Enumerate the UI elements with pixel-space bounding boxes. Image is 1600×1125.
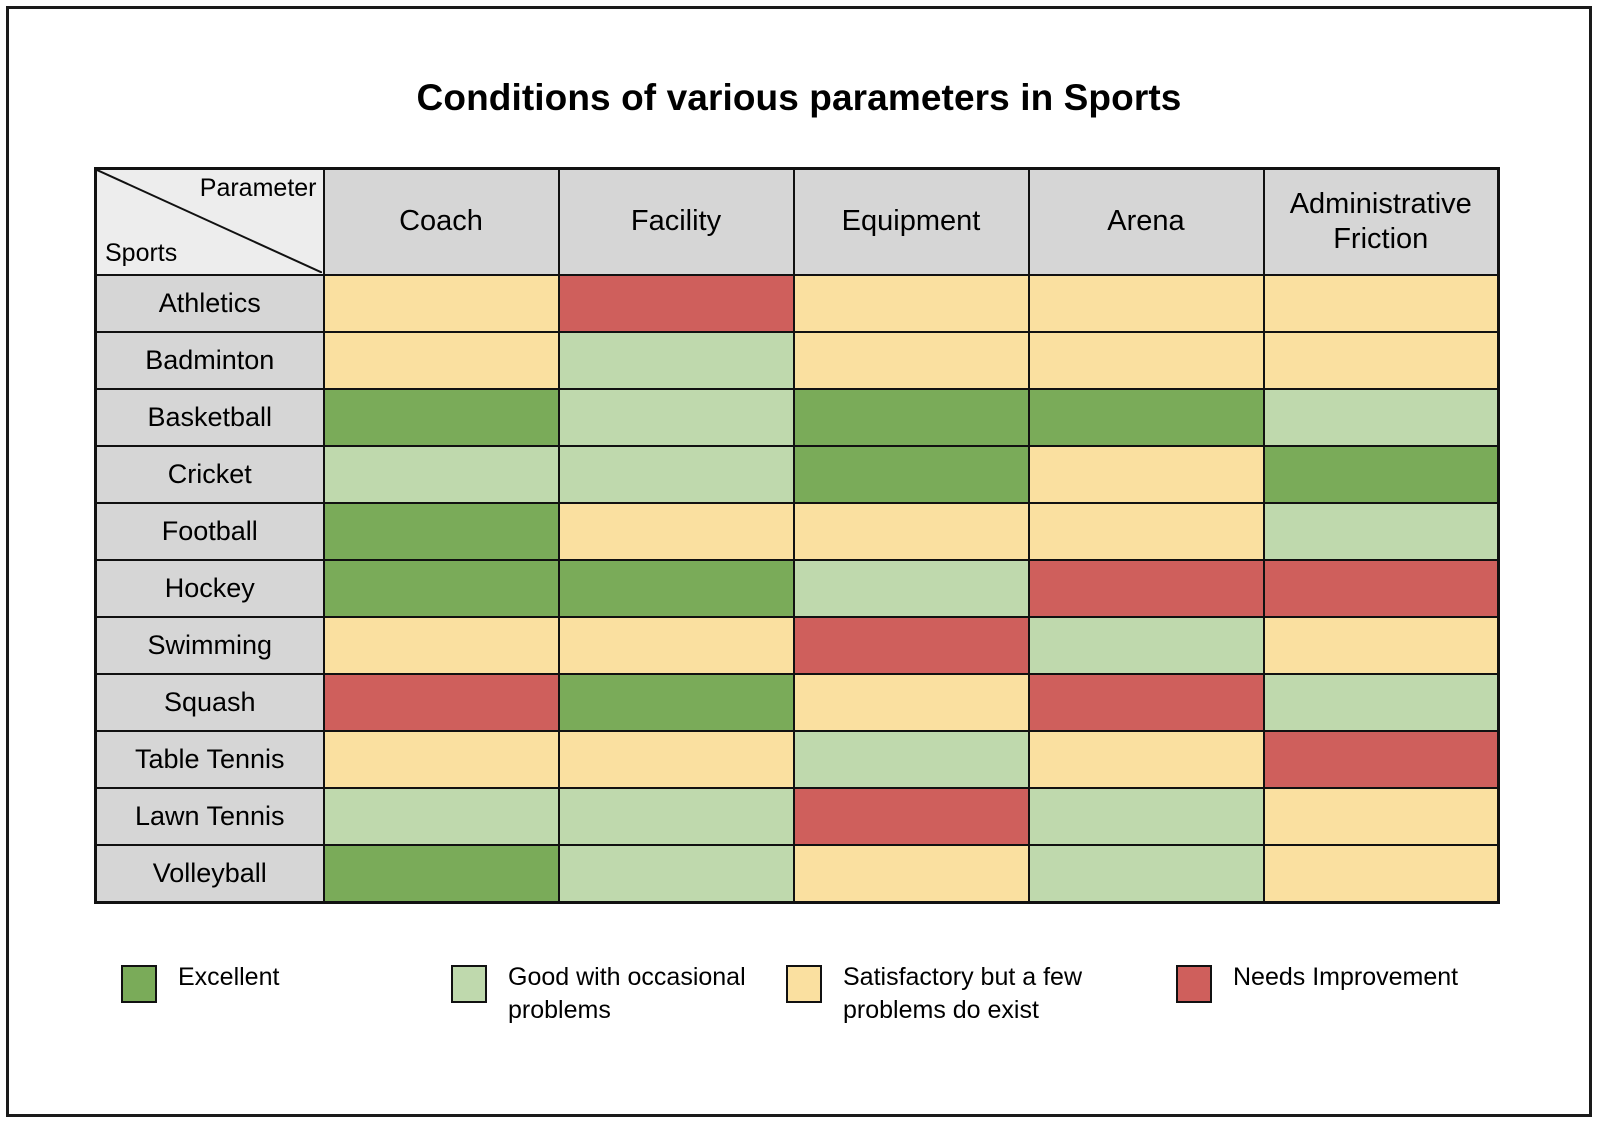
- matrix-cell: [1029, 275, 1264, 332]
- matrix-cell: [1264, 275, 1499, 332]
- matrix-cell: [324, 845, 559, 903]
- matrix-cell: [1264, 731, 1499, 788]
- matrix-cell: [559, 503, 794, 560]
- row-header-table-tennis: Table Tennis: [96, 731, 324, 788]
- matrix-cell: [324, 560, 559, 617]
- matrix-cell: [324, 788, 559, 845]
- matrix-cell: [559, 788, 794, 845]
- matrix-cell: [324, 332, 559, 389]
- matrix-cell: [794, 332, 1029, 389]
- header-row: Parameter Sports CoachFacilityEquipmentA…: [96, 169, 1499, 276]
- row-header-basketball: Basketball: [96, 389, 324, 446]
- matrix-cell: [324, 617, 559, 674]
- table-row: Volleyball: [96, 845, 1499, 903]
- matrix-cell: [1029, 503, 1264, 560]
- conditions-table: Parameter Sports CoachFacilityEquipmentA…: [94, 167, 1500, 904]
- matrix-cell: [1264, 617, 1499, 674]
- matrix-cell: [1029, 731, 1264, 788]
- page-title: Conditions of various parameters in Spor…: [9, 77, 1589, 119]
- row-header-cricket: Cricket: [96, 446, 324, 503]
- corner-sports-label: Sports: [105, 239, 177, 268]
- matrix-cell: [794, 788, 1029, 845]
- matrix-cell: [1029, 560, 1264, 617]
- table-row: Lawn Tennis: [96, 788, 1499, 845]
- column-header-equipment: Equipment: [794, 169, 1029, 276]
- page-frame: Conditions of various parameters in Spor…: [6, 6, 1592, 1117]
- matrix-cell: [1029, 389, 1264, 446]
- table-row: Hockey: [96, 560, 1499, 617]
- matrix-cell: [324, 503, 559, 560]
- matrix-cell: [794, 674, 1029, 731]
- matrix-cell: [1264, 674, 1499, 731]
- row-header-lawn-tennis: Lawn Tennis: [96, 788, 324, 845]
- matrix-cell: [559, 731, 794, 788]
- matrix-cell: [1029, 617, 1264, 674]
- corner-parameter-label: Parameter: [200, 174, 317, 203]
- legend-swatch-excellent: [121, 965, 157, 1003]
- matrix-cell: [324, 389, 559, 446]
- legend: ExcellentGood with occasional problemsSa…: [121, 961, 1501, 1027]
- matrix-cell: [1264, 845, 1499, 903]
- row-header-swimming: Swimming: [96, 617, 324, 674]
- row-header-athletics: Athletics: [96, 275, 324, 332]
- table-row: Swimming: [96, 617, 1499, 674]
- matrix-cell: [1029, 446, 1264, 503]
- corner-header-cell: Parameter Sports: [96, 169, 324, 276]
- matrix-cell: [559, 332, 794, 389]
- matrix-cell: [1264, 332, 1499, 389]
- table-row: Basketball: [96, 389, 1499, 446]
- matrix-cell: [794, 560, 1029, 617]
- matrix-cell: [324, 275, 559, 332]
- matrix-cell: [559, 389, 794, 446]
- row-header-squash: Squash: [96, 674, 324, 731]
- row-header-hockey: Hockey: [96, 560, 324, 617]
- matrix-cell: [1264, 503, 1499, 560]
- table-row: Cricket: [96, 446, 1499, 503]
- column-header-administrative-friction: Administrative Friction: [1264, 169, 1499, 276]
- row-header-football: Football: [96, 503, 324, 560]
- legend-item-needs-improvement: Needs Improvement: [1176, 961, 1476, 1003]
- legend-item-excellent: Excellent: [121, 961, 451, 1003]
- row-header-badminton: Badminton: [96, 332, 324, 389]
- legend-label: Needs Improvement: [1233, 961, 1458, 994]
- matrix-cell: [1264, 560, 1499, 617]
- table-header: Parameter Sports CoachFacilityEquipmentA…: [96, 169, 1499, 276]
- table-row: Badminton: [96, 332, 1499, 389]
- matrix-cell: [559, 560, 794, 617]
- legend-label: Satisfactory but a few problems do exist: [843, 961, 1108, 1027]
- legend-swatch-satisfactory: [786, 965, 822, 1003]
- conditions-matrix: Parameter Sports CoachFacilityEquipmentA…: [94, 167, 1497, 904]
- matrix-cell: [1264, 788, 1499, 845]
- matrix-cell: [559, 446, 794, 503]
- table-row: Squash: [96, 674, 1499, 731]
- matrix-cell: [1029, 845, 1264, 903]
- matrix-cell: [559, 275, 794, 332]
- legend-item-good: Good with occasional problems: [451, 961, 786, 1027]
- matrix-cell: [1029, 332, 1264, 389]
- matrix-cell: [1029, 674, 1264, 731]
- matrix-cell: [794, 275, 1029, 332]
- matrix-cell: [1264, 389, 1499, 446]
- legend-label: Good with occasional problems: [508, 961, 773, 1027]
- legend-swatch-good: [451, 965, 487, 1003]
- table-row: Football: [96, 503, 1499, 560]
- legend-label: Excellent: [178, 961, 279, 994]
- column-header-coach: Coach: [324, 169, 559, 276]
- matrix-cell: [559, 617, 794, 674]
- matrix-cell: [794, 617, 1029, 674]
- matrix-cell: [559, 845, 794, 903]
- matrix-cell: [324, 446, 559, 503]
- table-row: Table Tennis: [96, 731, 1499, 788]
- matrix-cell: [794, 389, 1029, 446]
- legend-item-satisfactory: Satisfactory but a few problems do exist: [786, 961, 1176, 1027]
- matrix-cell: [1264, 446, 1499, 503]
- matrix-cell: [794, 446, 1029, 503]
- column-header-arena: Arena: [1029, 169, 1264, 276]
- column-header-facility: Facility: [559, 169, 794, 276]
- matrix-cell: [559, 674, 794, 731]
- matrix-cell: [794, 845, 1029, 903]
- table-body: AthleticsBadmintonBasketballCricketFootb…: [96, 275, 1499, 903]
- matrix-cell: [794, 731, 1029, 788]
- row-header-volleyball: Volleyball: [96, 845, 324, 903]
- matrix-cell: [794, 503, 1029, 560]
- matrix-cell: [324, 731, 559, 788]
- table-row: Athletics: [96, 275, 1499, 332]
- matrix-cell: [324, 674, 559, 731]
- matrix-cell: [1029, 788, 1264, 845]
- legend-swatch-needs-improvement: [1176, 965, 1212, 1003]
